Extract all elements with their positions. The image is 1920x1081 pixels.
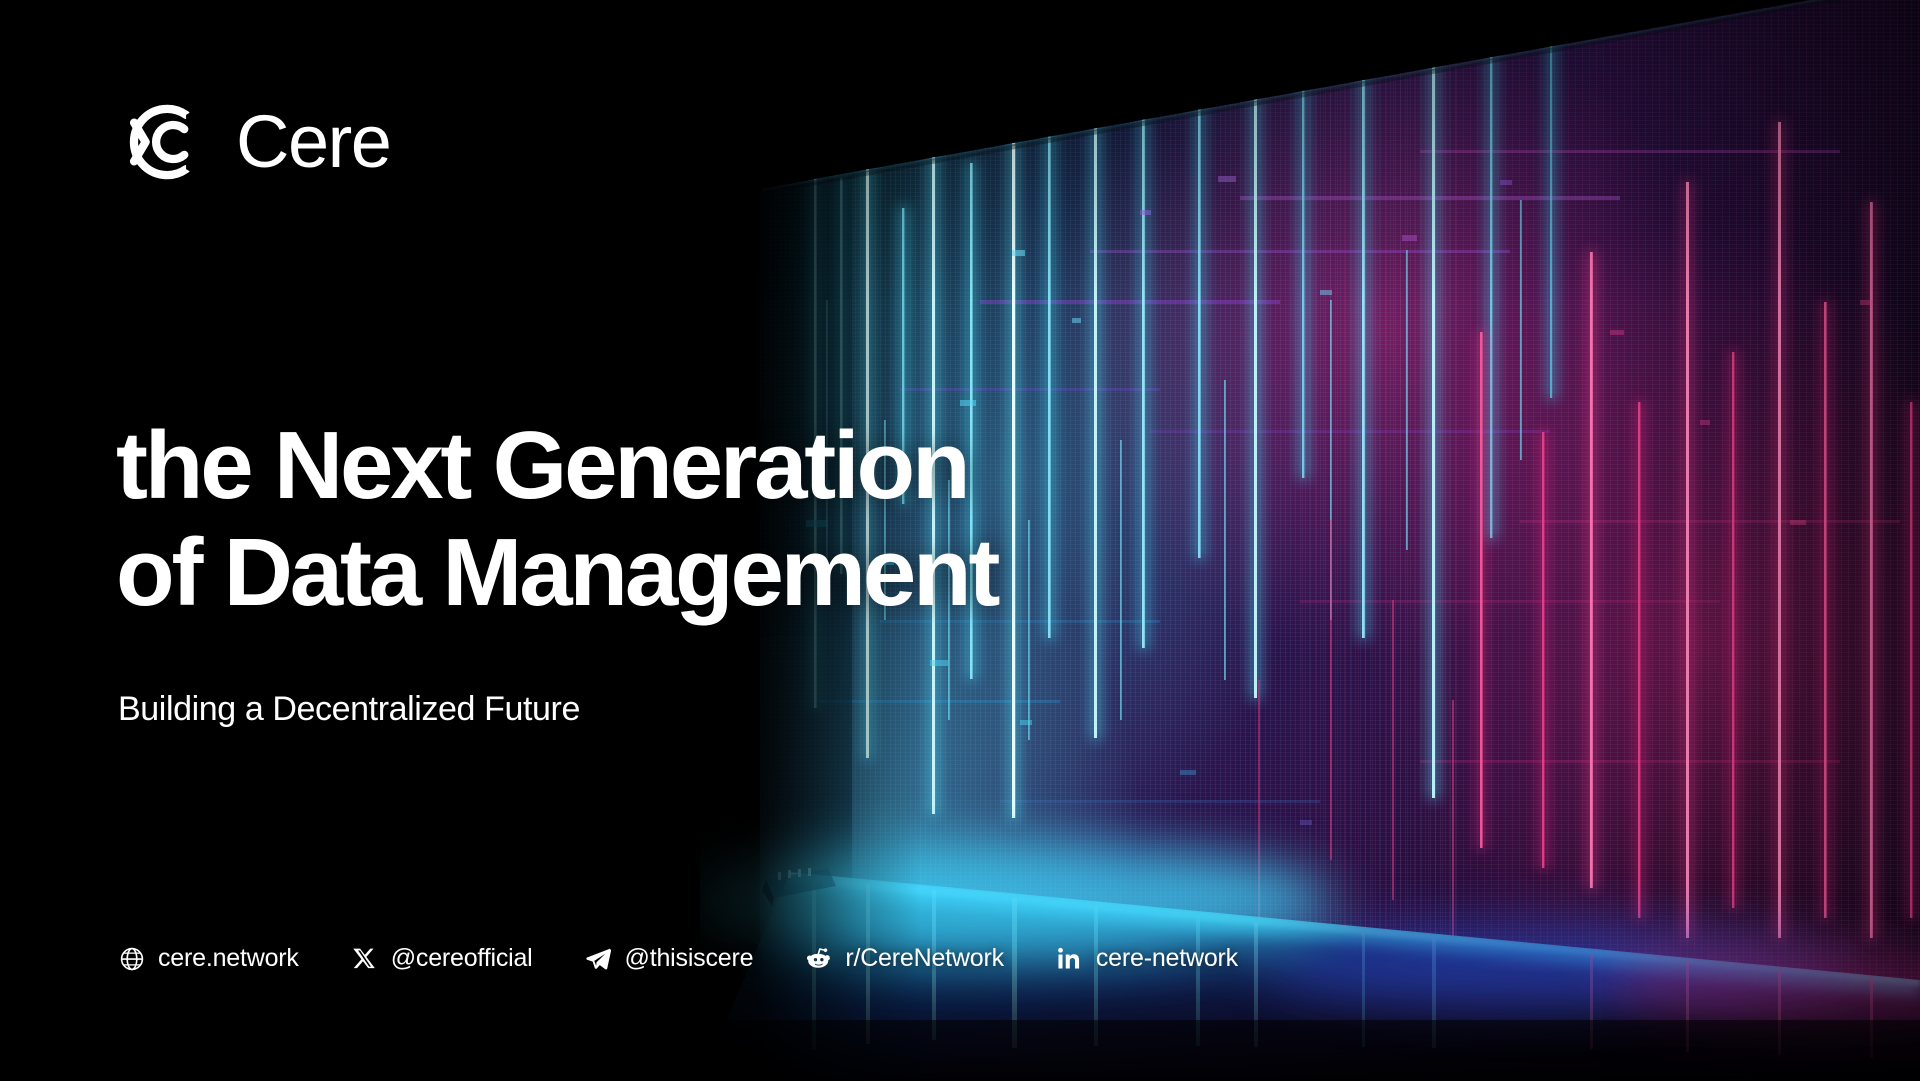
page-subtitle: Building a Decentralized Future xyxy=(118,690,580,729)
social-links: cere.network @cereofficial @thisiscere xyxy=(118,944,1238,973)
social-label-reddit: r/CereNetwork xyxy=(845,944,1004,973)
brand-wordmark: Cere xyxy=(236,105,390,179)
slide-canvas: Cere the Next Generation of Data Managem… xyxy=(0,0,1920,1081)
social-label-linkedin: cere-network xyxy=(1096,944,1238,973)
headline-line-2: of Data Management xyxy=(116,519,997,626)
globe-icon xyxy=(118,945,145,972)
cere-c-mark-icon xyxy=(118,96,210,188)
social-link-linkedin[interactable]: cere-network xyxy=(1056,944,1238,973)
page-title: the Next Generation of Data Management xyxy=(116,412,997,626)
social-link-website[interactable]: cere.network xyxy=(118,944,299,973)
telegram-icon xyxy=(585,945,612,972)
brand-logo[interactable]: Cere xyxy=(118,96,390,188)
social-link-reddit[interactable]: r/CereNetwork xyxy=(805,944,1004,973)
reddit-icon xyxy=(805,945,832,972)
headline-line-1: the Next Generation xyxy=(116,412,997,519)
social-label-website: cere.network xyxy=(158,944,299,973)
social-link-twitter[interactable]: @cereofficial xyxy=(351,944,533,973)
linkedin-icon xyxy=(1056,945,1083,972)
social-link-telegram[interactable]: @thisiscere xyxy=(585,944,754,973)
social-label-telegram: @thisiscere xyxy=(625,944,754,973)
x-twitter-icon xyxy=(351,945,378,972)
social-label-twitter: @cereofficial xyxy=(391,944,533,973)
